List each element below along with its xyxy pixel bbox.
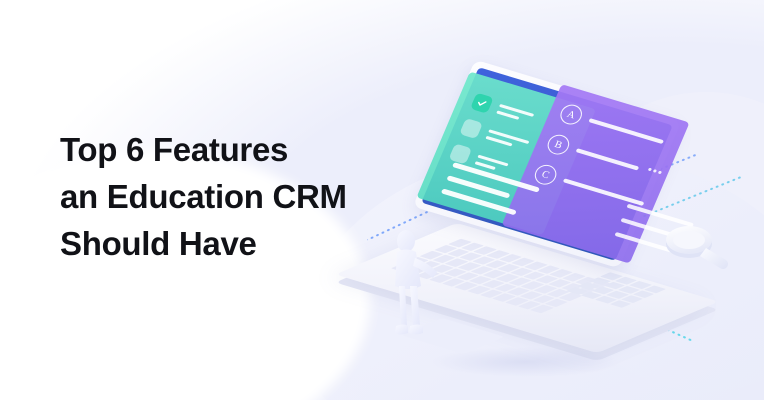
checkbox-empty[interactable]: [459, 118, 483, 139]
text-bar: [475, 161, 496, 170]
check-icon: [476, 98, 489, 109]
answer-text-bar: [563, 178, 645, 206]
answer-badge-b: B: [544, 132, 572, 157]
text-bar: [488, 129, 529, 144]
magnifying-glass-icon: [660, 212, 736, 282]
hero-illustration: A B C: [360, 70, 764, 400]
headline-line-1: Top 6 Features: [60, 126, 420, 173]
answer-text-bar: [576, 148, 640, 170]
banner-root: Top 6 Features an Education CRM Should H…: [0, 0, 764, 400]
checklist-item-text: [486, 129, 530, 150]
answer-badge-a: A: [557, 102, 585, 127]
answer-list: A B C: [532, 102, 674, 213]
answer-badge-c: C: [532, 162, 560, 187]
headline-line-3: Should Have: [60, 220, 420, 267]
checkbox-checked[interactable]: [470, 93, 494, 114]
checkbox-empty[interactable]: [448, 143, 472, 164]
answer-text-bar: [588, 118, 664, 144]
page-title: Top 6 Features an Education CRM Should H…: [60, 126, 420, 267]
window-dot-icon: [658, 171, 662, 175]
checklist-item-text: [496, 103, 534, 123]
headline-line-2: an Education CRM: [60, 173, 420, 220]
